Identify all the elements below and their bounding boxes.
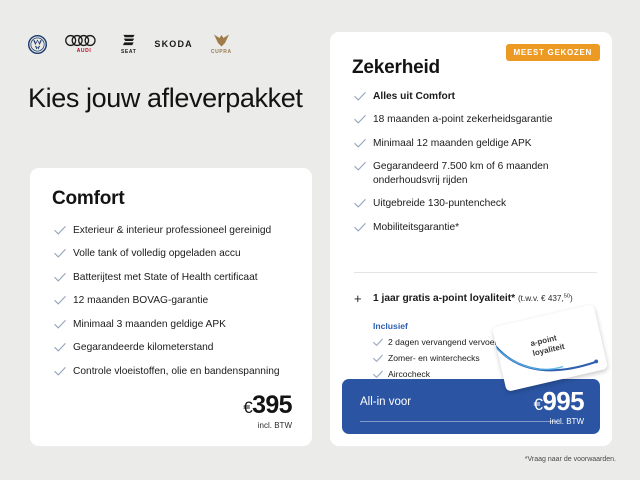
- loyalty-value-suffix: ): [570, 294, 573, 303]
- check-icon: [354, 91, 366, 102]
- zekerheid-feature-list: Alles uit Comfort 18 maanden a-point zek…: [354, 90, 599, 244]
- list-item: Minimaal 3 maanden geldige APK: [54, 318, 292, 331]
- check-icon: [54, 319, 66, 330]
- list-item-label: Aircocheck: [388, 369, 430, 379]
- check-icon: [54, 366, 66, 377]
- list-item-label: Zomer- en winterchecks: [388, 353, 480, 363]
- zekerheid-price-amount: 995: [542, 386, 584, 416]
- seat-wordmark: SEAT: [121, 49, 136, 55]
- list-item-label: Alles uit Comfort: [373, 91, 455, 102]
- loyalty-benefit-row: + 1 jaar gratis a-point loyaliteit* (t.w…: [354, 293, 616, 304]
- comfort-price: €395: [243, 393, 292, 418]
- comfort-feature-list: Exterieur & interieur professioneel gere…: [54, 224, 292, 388]
- allin-price-bar: All-in voor €995 incl. BTW: [342, 379, 600, 434]
- brand-logo-bar: Audi SEAT SKODA CUPRA: [28, 30, 232, 58]
- check-icon: [54, 225, 66, 236]
- list-item-label: 2 dagen vervangend vervoer: [388, 337, 497, 347]
- check-icon: [354, 114, 366, 125]
- zekerheid-price-note: incl. BTW: [534, 417, 584, 426]
- list-item: 12 maanden BOVAG-garantie: [54, 294, 292, 307]
- footnote: *Vraag naar de voorwaarden.: [525, 456, 616, 463]
- promo-page: Audi SEAT SKODA CUPRA Kies jouw afleverp…: [0, 0, 640, 480]
- check-icon: [354, 198, 366, 209]
- list-item-label: Gegarandeerde kilometerstand: [73, 342, 213, 353]
- list-item-label: Gegarandeerd 7.500 km of 6 maanden onder…: [373, 161, 549, 185]
- check-icon: [54, 272, 66, 283]
- check-icon: [354, 138, 366, 149]
- cupra-logo: CUPRA: [211, 33, 232, 55]
- list-item: Minimaal 12 maanden geldige APK: [354, 137, 599, 150]
- skoda-logo: SKODA: [154, 39, 193, 49]
- audi-logo: Audi: [65, 34, 103, 54]
- list-item: Uitgebreide 130-puntencheck: [354, 197, 599, 210]
- list-item-label: Uitgebreide 130-puntencheck: [373, 198, 506, 209]
- list-item-label: Mobiliteitsgarantie*: [373, 222, 459, 233]
- check-icon: [373, 354, 383, 363]
- comfort-price-amount: 395: [252, 391, 292, 419]
- list-item-label: Minimaal 12 maanden geldige APK: [373, 138, 532, 149]
- list-item: Alles uit Comfort: [354, 90, 599, 103]
- cupra-wordmark: CUPRA: [211, 49, 232, 55]
- page-title: Kies jouw afleverpakket: [28, 82, 302, 115]
- check-icon: [354, 222, 366, 233]
- allin-label: All-in voor: [360, 396, 411, 408]
- plus-icon: +: [354, 293, 366, 305]
- allin-underline: [360, 421, 560, 422]
- zekerheid-title: Zekerheid: [352, 57, 440, 79]
- package-card-comfort[interactable]: Comfort Exterieur & interieur profession…: [30, 168, 312, 446]
- list-item: Gegarandeerde kilometerstand: [54, 341, 292, 354]
- status-badge: MEEST GEKOZEN: [506, 44, 600, 61]
- comfort-price-note: incl. BTW: [243, 421, 292, 430]
- list-item-label: 12 maanden BOVAG-garantie: [73, 295, 208, 306]
- volkswagen-logo: [28, 35, 47, 54]
- list-item-label: Volle tank of volledig opgeladen accu: [73, 248, 241, 259]
- section-divider: [354, 272, 597, 273]
- comfort-title: Comfort: [52, 188, 124, 210]
- loyalty-value-prefix: (t.w.v. € 437,: [518, 294, 564, 303]
- check-icon: [354, 161, 366, 172]
- comfort-price-block: €395 incl. BTW: [243, 393, 292, 430]
- list-item: Gegarandeerd 7.500 km of 6 maanden onder…: [354, 160, 599, 187]
- loyalty-benefit-label: 1 jaar gratis a-point loyaliteit*: [373, 293, 515, 304]
- loyalty-benefit-value: (t.w.v. € 437,50): [518, 294, 573, 303]
- audi-wordmark: Audi: [77, 48, 92, 54]
- seat-logo: SEAT: [121, 33, 136, 55]
- list-item-label: Batterijtest met State of Health certifi…: [73, 272, 258, 283]
- zekerheid-price: €995: [534, 388, 584, 414]
- check-icon: [54, 248, 66, 259]
- list-item: Volle tank of volledig opgeladen accu: [54, 247, 292, 260]
- currency-symbol: €: [243, 398, 252, 417]
- list-item-label: Controle vloeistoffen, olie en bandenspa…: [73, 366, 280, 377]
- skoda-wordmark: SKODA: [154, 39, 193, 49]
- check-icon: [373, 370, 383, 379]
- check-icon: [373, 338, 383, 347]
- list-item: Mobiliteitsgarantie*: [354, 221, 599, 234]
- allin-price-block: €995 incl. BTW: [534, 388, 584, 426]
- list-item: 18 maanden a-point zekerheidsgarantie: [354, 113, 599, 126]
- list-item-label: 18 maanden a-point zekerheidsgarantie: [373, 114, 553, 125]
- list-item-label: Minimaal 3 maanden geldige APK: [73, 319, 226, 330]
- list-item: Exterieur & interieur professioneel gere…: [54, 224, 292, 237]
- check-icon: [54, 342, 66, 353]
- check-icon: [54, 295, 66, 306]
- list-item: Batterijtest met State of Health certifi…: [54, 271, 292, 284]
- list-item-label: Exterieur & interieur professioneel gere…: [73, 225, 271, 236]
- package-card-zekerheid[interactable]: MEEST GEKOZEN Zekerheid Alles uit Comfor…: [330, 32, 612, 446]
- list-item: Controle vloeistoffen, olie en bandenspa…: [54, 365, 292, 378]
